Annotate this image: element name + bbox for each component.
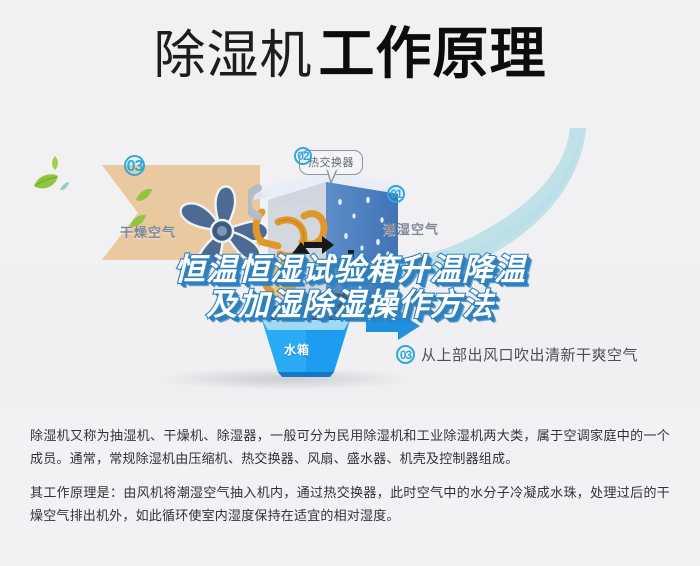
page-title-light: 除湿机 [153, 27, 312, 85]
step-line-03: 03从上部出风口吹出清新干爽空气 [396, 344, 638, 365]
page-root: 除湿机工作原理 03 干燥空气 [0, 0, 700, 566]
infographic-hero: 除湿机工作原理 03 干燥空气 [0, 0, 700, 408]
article-paragraph-1: 除湿机又称为抽湿机、干燥机、除湿器，一般可分为民用除湿机和工业除湿机两大类，属于… [30, 424, 670, 470]
label-water-tank: 水箱 [284, 341, 310, 358]
page-title-bold: 工作原理 [319, 22, 547, 85]
leaf-icon [60, 182, 69, 191]
article-paragraph-2: 其工作原理是：由风机将潮湿空气抽入机内，通过热交换器，此时空气中的水分子冷凝成水… [30, 481, 670, 527]
article-body: 除湿机又称为抽湿机、干燥机、除湿器，一般可分为民用除湿机和工业除湿机两大类，属于… [0, 408, 700, 566]
leaf-icon [50, 156, 60, 170]
step-text-03: 从上部出风口吹出清新干爽空气 [421, 344, 638, 365]
callout-number-02: 02 [294, 147, 312, 165]
callout-number-01: 01 [387, 185, 405, 203]
step-number-03: 03 [396, 345, 415, 364]
leaf-icon [136, 188, 152, 202]
label-humid-air: 潮湿空气 [383, 219, 439, 238]
callout-number-03: 03 [124, 155, 145, 176]
leaf-icon [33, 173, 59, 191]
overlay-title-line-2: 及加湿除湿操作方法 [0, 287, 700, 322]
bubble-pointer-icon [326, 169, 338, 183]
page-title: 除湿机工作原理 [0, 26, 700, 82]
overlay-title: 恒温恒湿试验箱升温降温 及加湿除湿操作方法 [0, 252, 700, 322]
overlay-title-line-1: 恒温恒湿试验箱升温降温 [0, 252, 700, 287]
